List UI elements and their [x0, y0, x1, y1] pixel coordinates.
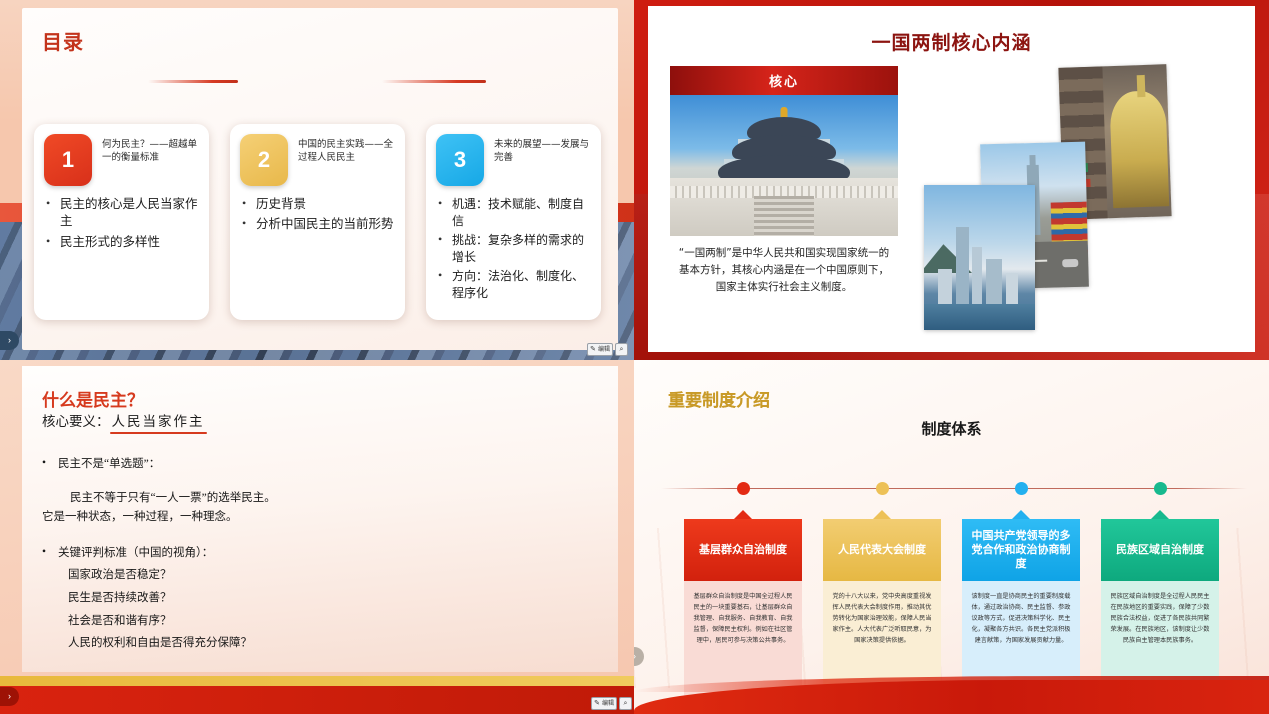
victoria-harbour-water — [924, 304, 1035, 330]
page-title: 目录 — [42, 26, 84, 55]
hk-tower-5 — [1006, 273, 1018, 305]
toc-number-badge-3: 3 — [436, 134, 484, 186]
system-column-1-header: 基层群众自治制度 — [684, 519, 802, 581]
column-arrow-icon — [873, 510, 891, 519]
column-arrow-icon — [734, 510, 752, 519]
system-column-4-header: 民族区域自治制度 — [1101, 519, 1219, 581]
slide-what-is-democracy[interactable]: 什么是民主？ 核心要义：人民当家作主 民主不是“单选题”： 民主不等于只有“一人… — [0, 360, 634, 714]
core-meaning-prefix: 核心要义： — [42, 414, 110, 429]
system-column-3-header: 中国共产党领导的多党合作和政治协商制度 — [962, 519, 1080, 581]
timeline-dot-2 — [876, 482, 889, 495]
magnifier-icon: ⌕ — [620, 346, 624, 353]
hk-tower-2 — [972, 247, 982, 305]
list-item: 机遇：技术赋能、制度自信 — [436, 196, 591, 229]
taipei-car-2 — [1062, 259, 1078, 267]
hong-kong-skyline-photo — [924, 185, 1035, 330]
toc-number-badge-1: 1 — [44, 134, 92, 186]
core-panel: 核心 “一国两制”是中华人民共和国实现国家统一的基本方针，其核心内涵是在一个中国… — [670, 66, 898, 296]
edit-button-label: 编辑 — [598, 347, 610, 353]
column-arrow-icon — [1012, 510, 1030, 519]
section-subtitle: 制度体系 — [634, 418, 1269, 439]
page-title: 什么是民主？ — [42, 386, 144, 411]
slide-table-of-contents[interactable]: 目录 1 何为民主？——超越单一的衡量标准 民主的核心是人民当家作主 民主形式的… — [0, 0, 634, 360]
temple-stairs — [754, 196, 814, 236]
toc-card-1-head: 1 何为民主？——超越单一的衡量标准 — [44, 134, 199, 186]
system-column-4[interactable]: 民族区域自治制度 民族区域自治制度是全过程人民民主在民族地区的重要实践，保障了少… — [1101, 510, 1219, 701]
zoom-button[interactable]: ⌕ — [615, 343, 628, 356]
democracy-block-2: 关键评判标准（中国的视角）： 国家政治是否稳定？ 民生是否持续改善？ 社会是否和… — [40, 545, 598, 653]
criteria-item: 民生是否持续改善？ — [68, 589, 598, 608]
system-column-2-header: 人民代表大会制度 — [823, 519, 941, 581]
toc-card-1-bullets: 民主的核心是人民当家作主 民主形式的多样性 — [44, 196, 199, 251]
democracy-block-1-line-2: 它是一种状态，一种过程，一种理念。 — [42, 508, 598, 527]
core-meaning-highlight: 人民当家作主 — [110, 414, 207, 431]
list-item: 民主形式的多样性 — [44, 234, 199, 251]
system-column-3[interactable]: 中国共产党领导的多党合作和政治协商制度 该制度一直是协商民主的重要制度载体，通过… — [962, 510, 1080, 701]
page-title: 一国两制核心内涵 — [634, 28, 1269, 55]
democracy-block-1: 民主不是“单选题”： 民主不等于只有“一人一票”的选举民主。 它是一种状态，一种… — [40, 456, 598, 527]
zoom-button[interactable]: ⌕ — [619, 697, 632, 710]
timeline-dot-3 — [1015, 482, 1028, 495]
macau-tower-spire — [1137, 75, 1146, 97]
criteria-item: 人民的权利和自由是否得充分保障？ — [68, 634, 598, 653]
toc-card-3-bullets: 机遇：技术赋能、制度自信 挑战：复杂多样的需求的增长 方向：法治化、制度化、程序… — [436, 196, 591, 301]
toc-card-3-head: 3 未来的展望——发展与完善 — [436, 134, 591, 186]
core-meaning-line: 核心要义：人民当家作主 — [42, 410, 207, 430]
list-item: 挑战：复杂多样的需求的增长 — [436, 232, 591, 265]
list-item: 民主的核心是人民当家作主 — [44, 196, 199, 231]
edit-button-label: 编辑 — [602, 701, 614, 707]
magnifier-icon: ⌕ — [624, 700, 628, 707]
hk-tower-ifc — [956, 227, 969, 305]
edit-button[interactable]: ✎ 编辑 — [587, 343, 613, 356]
timeline-dot-1 — [737, 482, 750, 495]
edit-button[interactable]: ✎ 编辑 — [591, 697, 617, 710]
page-title: 重要制度介绍 — [668, 386, 770, 411]
core-badge: 核心 — [670, 66, 898, 95]
list-item: 方向：法治化、制度化、程序化 — [436, 268, 591, 301]
slide-mini-toolbar[interactable]: ✎ 编辑 ⌕ — [587, 343, 628, 356]
slide-one-country-two-systems[interactable]: 一国两制核心内涵 核心 “一国两制”是中华人民共和国实现国家统一的基本方针，其核… — [634, 0, 1269, 360]
expand-left-panel-chevron-icon[interactable]: › — [0, 331, 19, 350]
core-description: “一国两制”是中华人民共和国实现国家统一的基本方针，其核心内涵是在一个中国原则下… — [670, 245, 898, 296]
toc-card-2-head: 2 中国的民主实践——全过程人民民主 — [240, 134, 395, 186]
title-rule-left — [148, 80, 238, 83]
macau-grand-lisboa — [1109, 90, 1169, 208]
hk-tower-4 — [986, 259, 1002, 305]
democracy-block-2-bullet: 关键评判标准（中国的视角）： — [40, 545, 598, 562]
list-item: 分析中国民主的当前形势 — [240, 216, 395, 233]
toc-card-2-headline: 中国的民主实践——全过程人民民主 — [298, 134, 395, 165]
title-rule-right — [382, 80, 486, 83]
criteria-item: 国家政治是否稳定？ — [68, 566, 598, 585]
toc-card-2-bullets: 历史背景 分析中国民主的当前形势 — [240, 196, 395, 234]
toc-card-3-headline: 未来的展望——发展与完善 — [494, 134, 591, 165]
toc-card-3[interactable]: 3 未来的展望——发展与完善 机遇：技术赋能、制度自信 挑战：复杂多样的需求的增… — [426, 124, 601, 320]
pencil-icon: ✎ — [590, 346, 596, 353]
toc-card-1-headline: 何为民主？——超越单一的衡量标准 — [102, 134, 199, 165]
slide-grid: 目录 1 何为民主？——超越单一的衡量标准 民主的核心是人民当家作主 民主形式的… — [0, 0, 1269, 714]
timeline-dot-4 — [1154, 482, 1167, 495]
toc-card-2[interactable]: 2 中国的民主实践——全过程人民民主 历史背景 分析中国民主的当前形势 — [230, 124, 405, 320]
slide-mini-toolbar[interactable]: ✎ 编辑 ⌕ — [591, 697, 632, 710]
toc-number-badge-2: 2 — [240, 134, 288, 186]
red-footer-bar — [0, 686, 634, 714]
system-column-2[interactable]: 人民代表大会制度 党的十八大以来，党中央高度重视发挥人民代表大会制度作用，推动其… — [823, 510, 941, 701]
temple-of-heaven-photo — [670, 95, 898, 236]
expand-left-panel-chevron-icon[interactable]: › — [0, 687, 19, 706]
toc-card-1[interactable]: 1 何为民主？——超越单一的衡量标准 民主的核心是人民当家作主 民主形式的多样性 — [34, 124, 209, 320]
democracy-block-1-bullet: 民主不是“单选题”： — [40, 456, 598, 473]
column-arrow-icon — [1151, 510, 1169, 519]
system-column-1[interactable]: 基层群众自治制度 基层群众自治制度是中国全过程人民民主的一块重要基石，让基层群众… — [684, 510, 802, 701]
list-item: 历史背景 — [240, 196, 395, 213]
hk-tower-3 — [938, 269, 952, 305]
criteria-item: 社会是否和谐有序？ — [68, 612, 598, 631]
democracy-block-1-line-1: 民主不等于只有“一人一票”的选举民主。 — [70, 489, 598, 508]
pencil-icon: ✎ — [594, 700, 600, 707]
slide-important-systems[interactable]: 重要制度介绍 制度体系 基层群众自治制度 基层群众自治制度是中国全过程人民民主的… — [634, 360, 1269, 714]
